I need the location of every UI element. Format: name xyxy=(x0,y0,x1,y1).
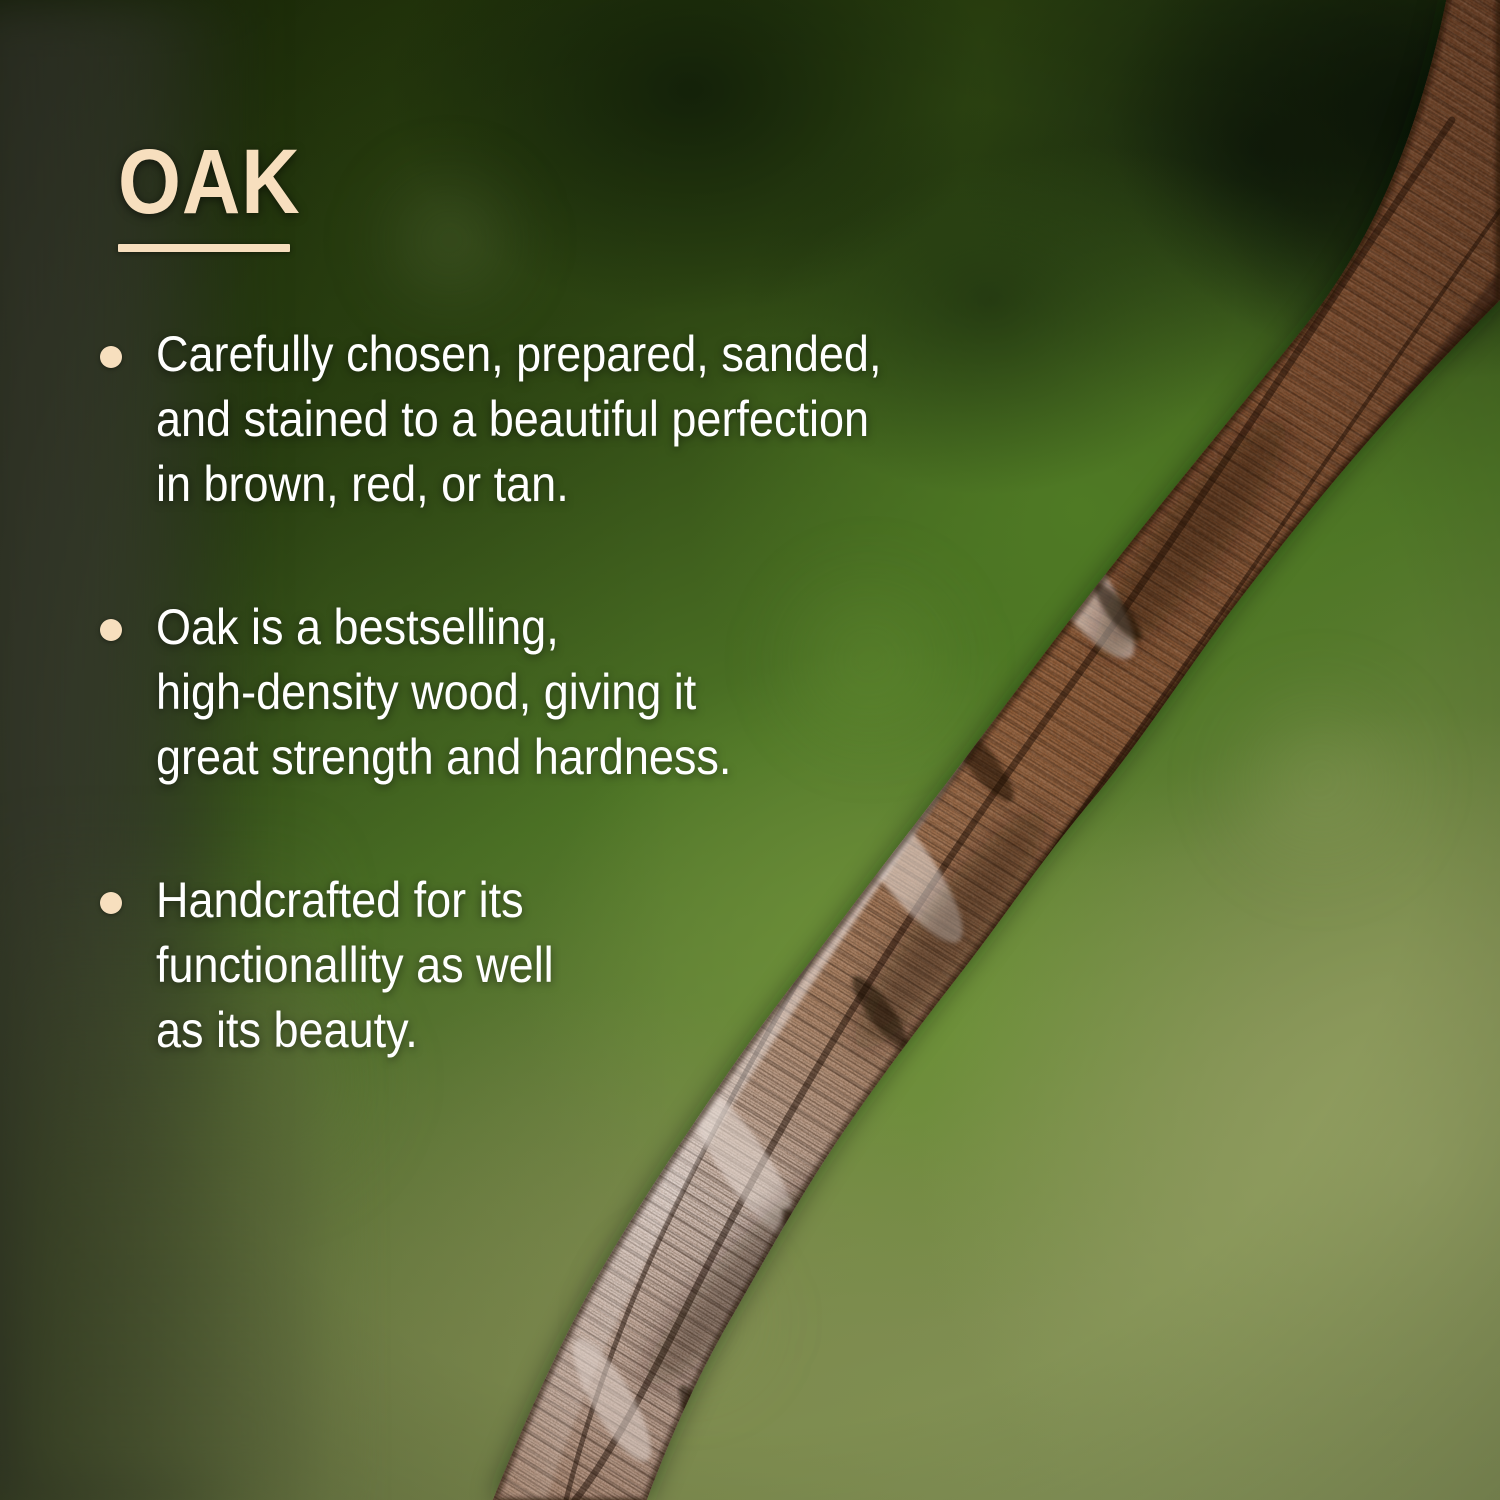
title-block: OAK xyxy=(118,136,325,252)
list-item-label: Carefully chosen, prepared, sanded, and … xyxy=(156,322,881,517)
bullet-dot-icon xyxy=(100,346,122,368)
list-item: Carefully chosen, prepared, sanded, and … xyxy=(100,322,1060,517)
list-item-label: Oak is a bestselling, high-density wood,… xyxy=(156,595,731,790)
bullet-dot-icon xyxy=(100,619,122,641)
oak-product-infographic: OAK Carefully chosen, prepared, sanded, … xyxy=(0,0,1500,1500)
bullet-list: Carefully chosen, prepared, sanded, and … xyxy=(100,322,1060,1141)
list-item: Handcrafted for its functionallity as we… xyxy=(100,868,1060,1063)
list-item: Oak is a bestselling, high-density wood,… xyxy=(100,595,1060,790)
title-underline xyxy=(118,244,290,252)
bullet-dot-icon xyxy=(100,892,122,914)
page-title: OAK xyxy=(118,136,301,228)
list-item-label: Handcrafted for its functionallity as we… xyxy=(156,868,554,1063)
